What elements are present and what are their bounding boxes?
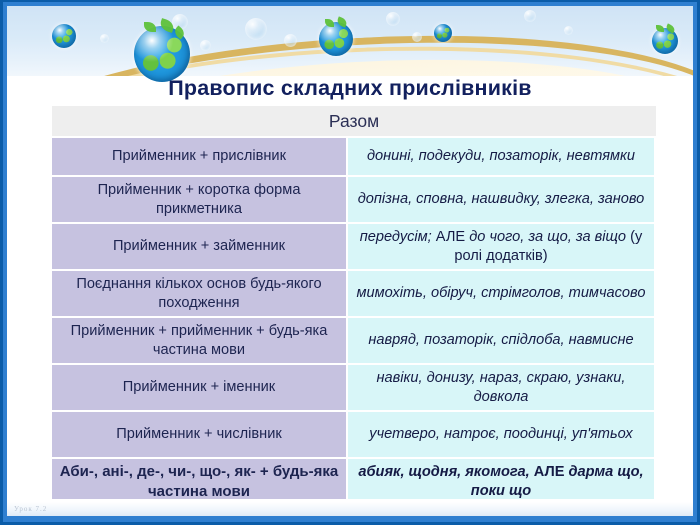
bubble-icon <box>200 40 211 51</box>
rule-cell: Прийменник + прийменник + будь-яка части… <box>52 318 348 363</box>
table-row: Прийменник + числівник учетверо, натроє,… <box>52 412 656 459</box>
table-row: Прийменник + іменник навіки, донизу, нар… <box>52 365 656 412</box>
example-part-2: до чого, за що, за віщо <box>469 229 626 245</box>
table-header-razom: Разом <box>52 106 656 138</box>
rule-cell: Аби-, ані-, де-, чи-, що-, як- + будь-як… <box>52 459 348 499</box>
globe-icon <box>134 26 190 82</box>
table-row: Поєднання кількох основ будь-якого поход… <box>52 271 656 318</box>
examples-cell: абияк, щодня, якомога, АЛЕ дарма що, пок… <box>348 459 654 499</box>
leaf-icon <box>656 25 664 32</box>
page-title-wrapper: Правопис складних прислівників <box>0 76 700 101</box>
rule-cell: Прийменник + прислівник <box>52 138 348 175</box>
watermark: Урок 7.2 <box>14 505 47 513</box>
table-row: Прийменник + прийменник + будь-яка части… <box>52 318 656 365</box>
table-row: Прийменник + коротка форма прикметника д… <box>52 177 656 224</box>
table-row: Аби-, ані-, де-, чи-, що-, як- + будь-як… <box>52 459 656 499</box>
examples-cell: навіки, донизу, нараз, скраю, узнаки, до… <box>348 365 654 410</box>
rule-cell: Прийменник + коротка форма прикметника <box>52 177 348 222</box>
bubble-icon <box>284 34 297 47</box>
globe-icon <box>52 24 76 48</box>
leaf-icon <box>336 16 348 27</box>
bubble-icon <box>524 10 536 22</box>
examples-cell: донині, подекуди, позаторік, невтямки <box>348 138 654 175</box>
rule-cell: Прийменник + займенник <box>52 224 348 269</box>
page-title: Правопис складних прислівників <box>168 76 531 101</box>
rule-cell: Прийменник + числівник <box>52 412 348 457</box>
examples-cell: допізна, сповна, нашвидку, злегка, занов… <box>348 177 654 222</box>
bubble-icon <box>386 12 400 26</box>
examples-cell: навряд, позаторік, спідлоба, навмисне <box>348 318 654 363</box>
example-part-1: абияк, щодня, якомога, <box>358 464 529 480</box>
bubble-icon <box>412 32 422 42</box>
rule-cell: Поєднання кількох основ будь-якого поход… <box>52 271 348 316</box>
example-part-1: передусім; <box>360 229 432 245</box>
leaf-icon <box>144 22 156 32</box>
table-row: Прийменник + займенник передусім; АЛЕ до… <box>52 224 656 271</box>
bubble-icon <box>564 26 573 35</box>
examples-cell: учетверо, натроє, поодинці, уп'ятьох <box>348 412 654 457</box>
bubble-icon <box>245 18 267 40</box>
globe-icon <box>434 24 452 42</box>
rule-cell: Прийменник + іменник <box>52 365 348 410</box>
leaf-icon <box>665 23 676 33</box>
leaf-icon <box>325 19 334 27</box>
examples-text: абияк, щодня, якомога, АЛЕ дарма що, пок… <box>354 463 648 499</box>
examples-text: передусім; АЛЕ до чого, за що, за віщо (… <box>354 228 648 265</box>
globe-icon <box>319 22 353 56</box>
conjunction-ale: АЛЕ <box>436 229 465 245</box>
globe-icon <box>652 28 678 54</box>
slide-canvas: Правопис складних прислівників Разом При… <box>0 0 700 525</box>
table-row: Прийменник + прислівник донині, подекуди… <box>52 138 656 177</box>
conjunction-ale: АЛЕ <box>534 464 565 480</box>
examples-cell: передусім; АЛЕ до чого, за що, за віщо (… <box>348 224 654 269</box>
examples-cell: мимохіть, обіруч, стрімголов, тимчасово <box>348 271 654 316</box>
bottom-fade <box>7 502 693 516</box>
rules-table: Разом Прийменник + прислівник донині, по… <box>52 106 656 499</box>
bubble-icon <box>100 34 109 43</box>
